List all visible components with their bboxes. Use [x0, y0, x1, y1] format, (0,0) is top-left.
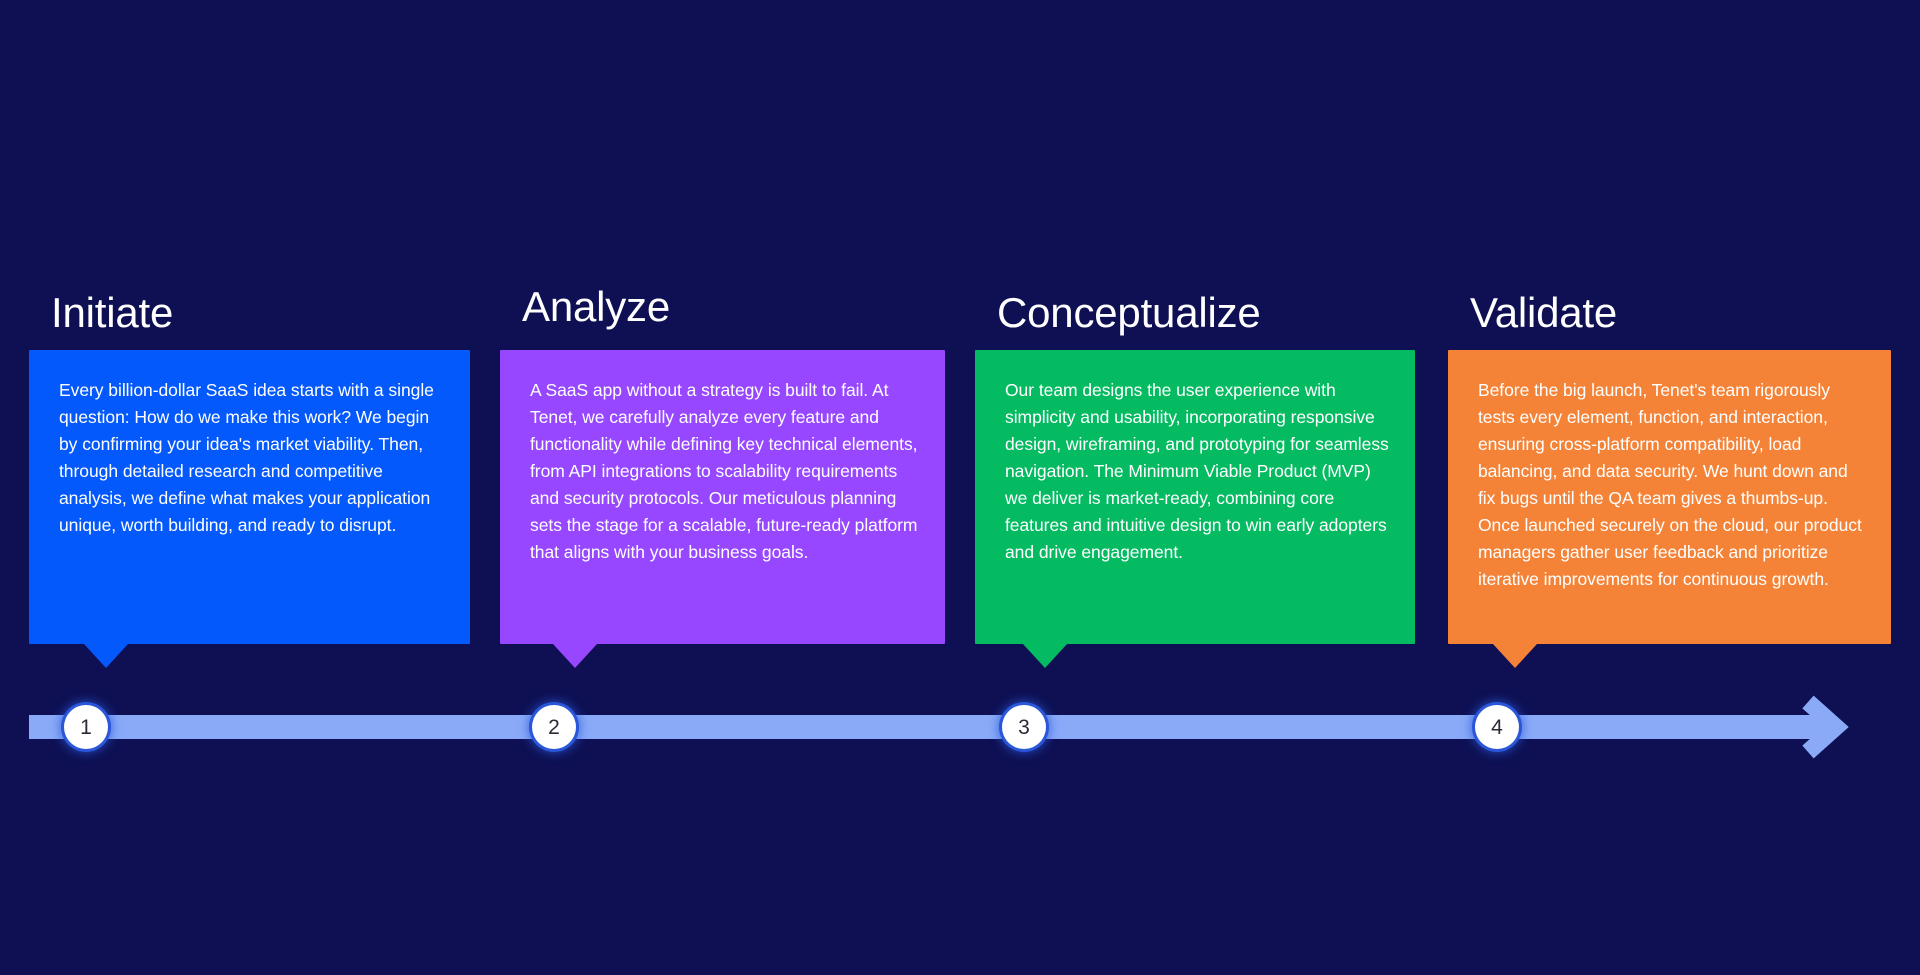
marker-number: 4 [1491, 717, 1503, 738]
marker-number: 1 [80, 717, 92, 738]
timeline-marker-4[interactable]: 4 [1475, 705, 1519, 749]
step-description: Every billion-dollar SaaS idea starts wi… [29, 350, 470, 559]
step-title: Analyze [522, 286, 670, 328]
step-description: Our team designs the user experience wit… [975, 350, 1415, 586]
step-title-wrap: Validate [1448, 274, 1891, 334]
step-analyze[interactable]: Analyze A SaaS app without a strategy is… [500, 0, 945, 700]
timeline-marker-2[interactable]: 2 [532, 705, 576, 749]
step-description: Before the big launch, Tenet's team rigo… [1448, 350, 1891, 613]
steps-row: Initiate Every billion-dollar SaaS idea … [0, 0, 1920, 700]
step-conceptualize[interactable]: Conceptualize Our team designs the user … [975, 0, 1415, 700]
step-title-wrap: Initiate [29, 274, 470, 334]
step-initiate[interactable]: Initiate Every billion-dollar SaaS idea … [29, 0, 470, 700]
timeline-infographic: Initiate Every billion-dollar SaaS idea … [0, 0, 1920, 975]
step-title: Initiate [51, 292, 173, 334]
step-card: Our team designs the user experience wit… [975, 350, 1415, 644]
timeline-track: 1 2 3 4 [0, 699, 1920, 779]
step-title: Validate [1470, 292, 1617, 334]
step-card: Every billion-dollar SaaS idea starts wi… [29, 350, 470, 644]
step-title-wrap: Analyze [500, 268, 945, 328]
marker-number: 3 [1018, 717, 1030, 738]
arrow-right-icon [1788, 692, 1858, 762]
step-title-wrap: Conceptualize [975, 274, 1415, 334]
step-validate[interactable]: Validate Before the big launch, Tenet's … [1448, 0, 1891, 700]
timeline-marker-3[interactable]: 3 [1002, 705, 1046, 749]
marker-number: 2 [548, 717, 560, 738]
card-pointer-triangle [1493, 644, 1537, 668]
step-title: Conceptualize [997, 292, 1261, 334]
card-pointer-triangle [84, 644, 128, 668]
step-card: Before the big launch, Tenet's team rigo… [1448, 350, 1891, 644]
step-card: A SaaS app without a strategy is built t… [500, 350, 945, 644]
step-description: A SaaS app without a strategy is built t… [500, 350, 945, 586]
card-pointer-triangle [553, 644, 597, 668]
timeline-marker-1[interactable]: 1 [64, 705, 108, 749]
card-pointer-triangle [1023, 644, 1067, 668]
timeline-bar [29, 715, 1831, 739]
